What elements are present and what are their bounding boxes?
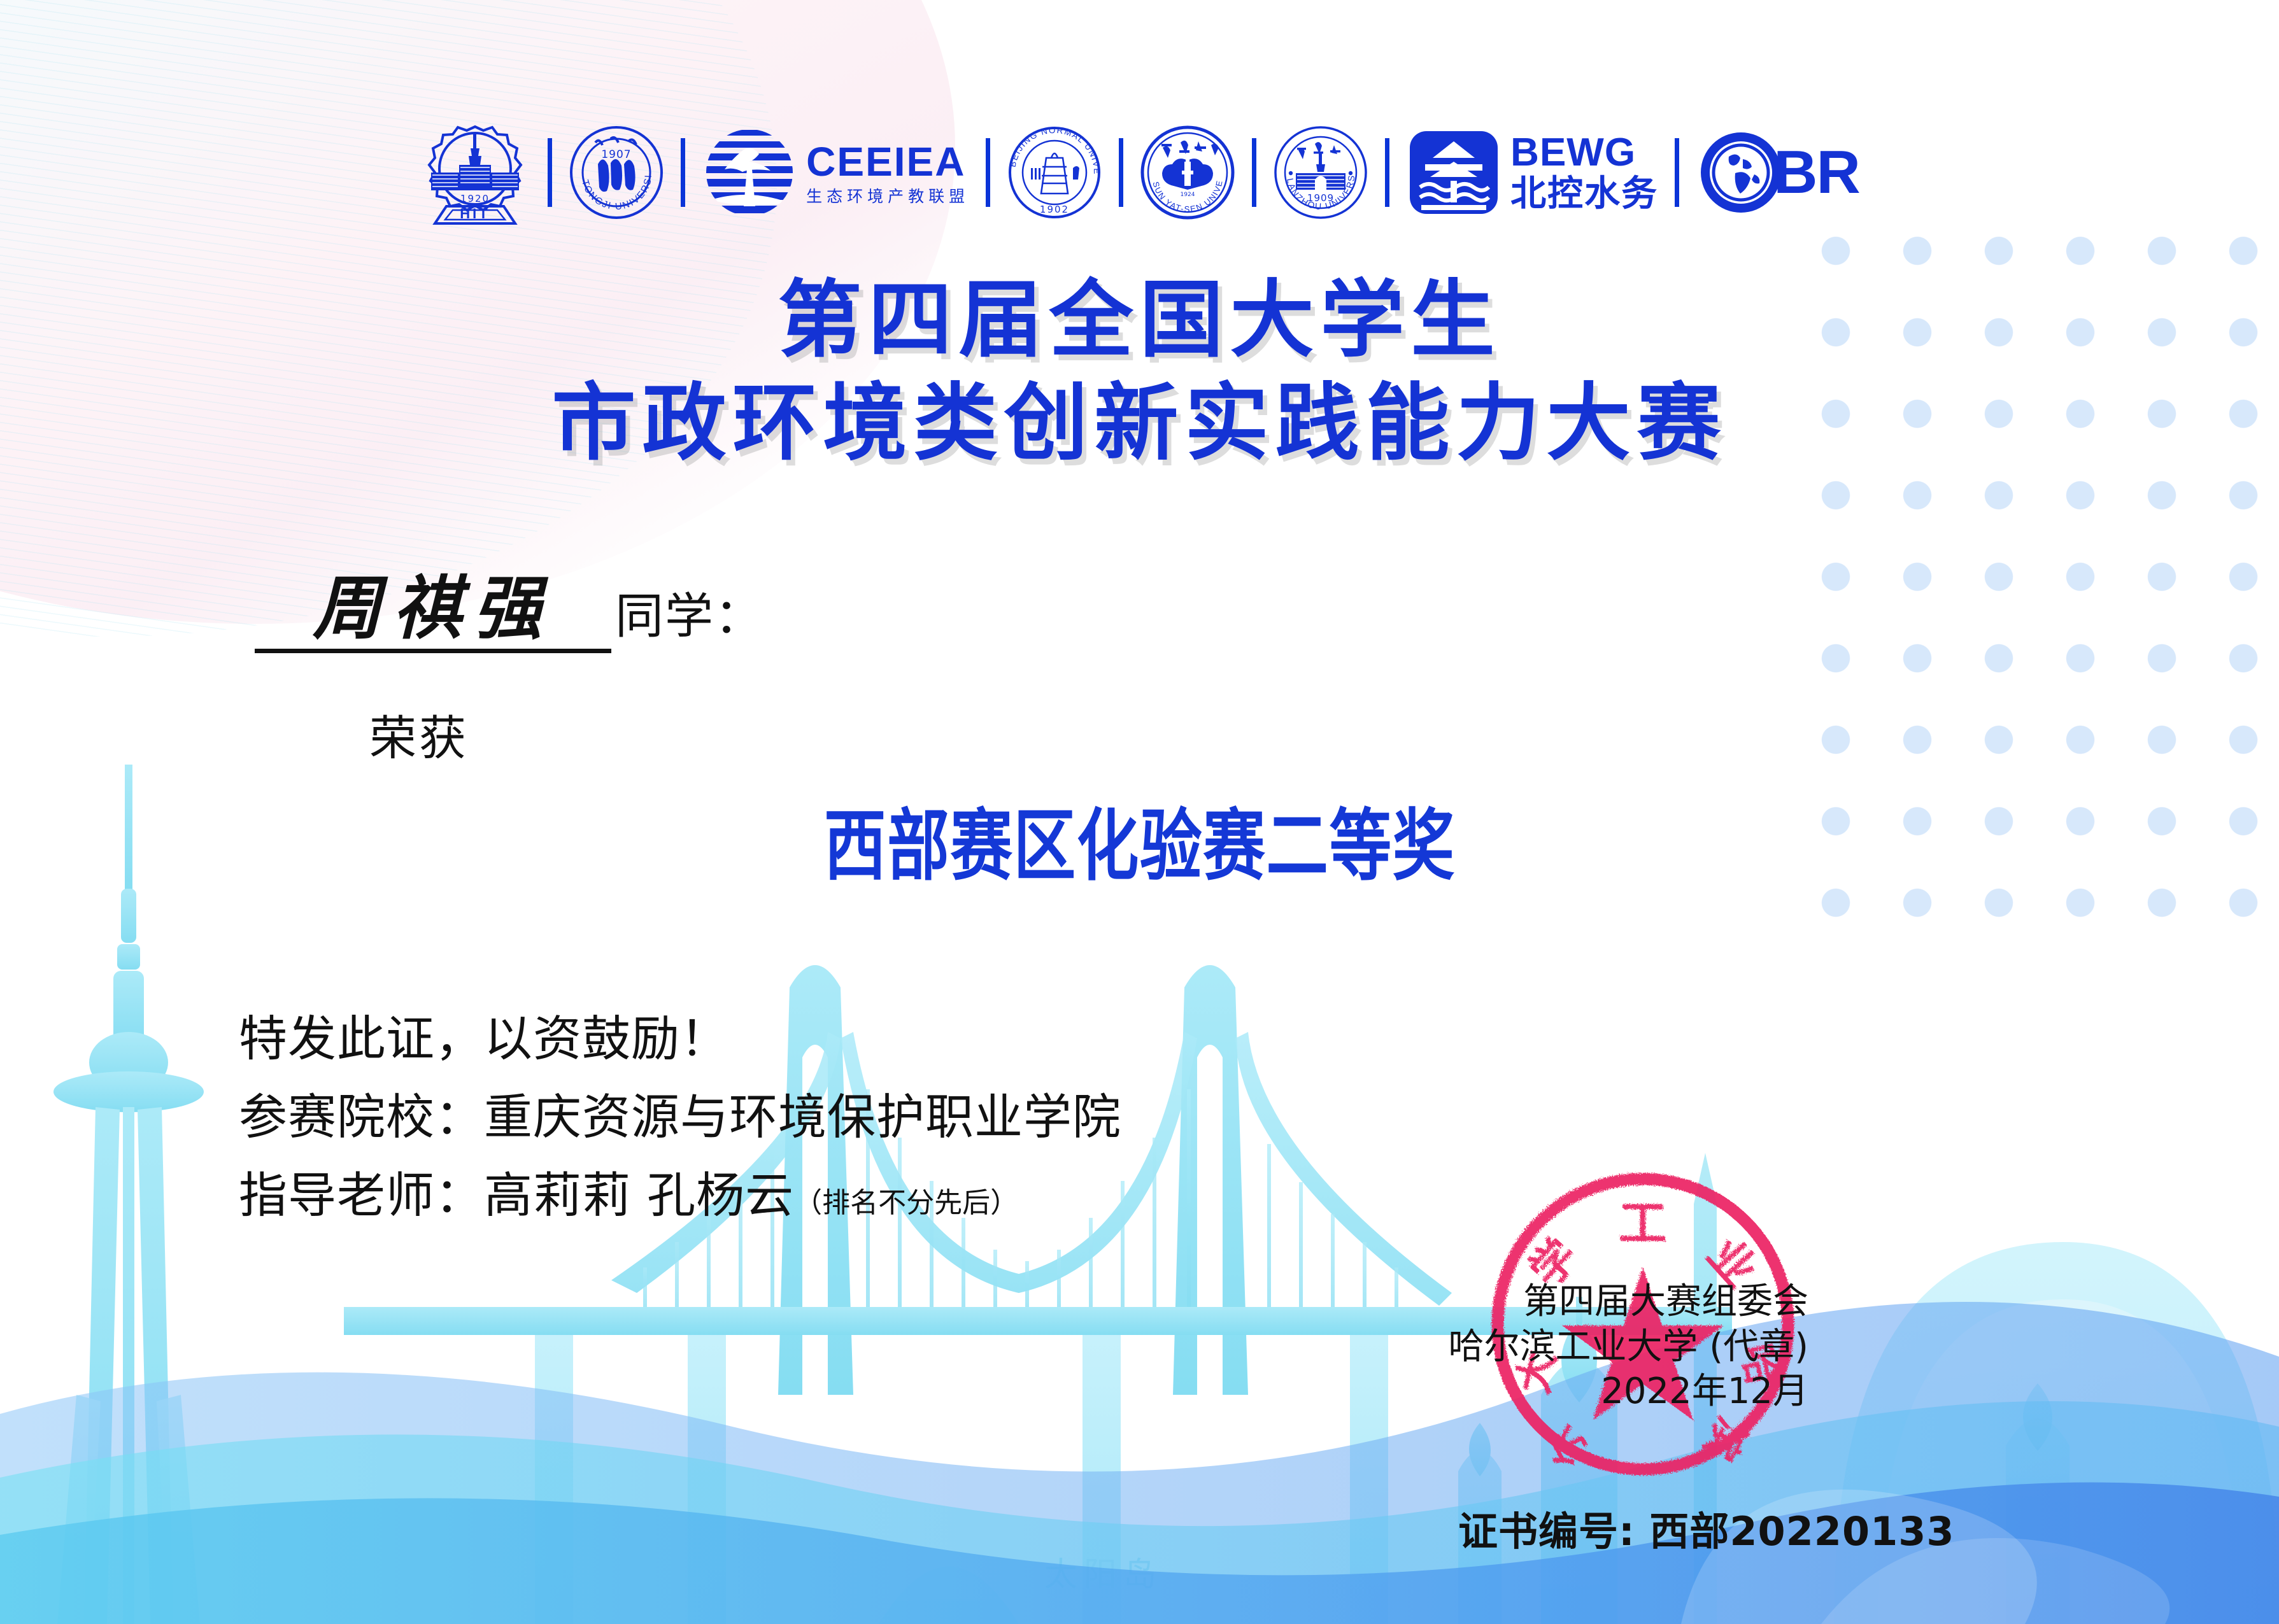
- teacher-order-note: （排名不分先后）: [794, 1187, 1018, 1219]
- recipient-name-field: 周祺强: [255, 573, 611, 653]
- br-label: BR: [1773, 142, 1859, 203]
- honor-label: 荣获: [369, 700, 469, 768]
- title-line-2: 市政环境类创新实践能力大赛: [0, 377, 2279, 471]
- island-label: 太阳岛: [1044, 1556, 1163, 1594]
- logo-sun-yat-sen-university: SUN YAT-SEN UNIVERSITY 1924: [1140, 115, 1235, 230]
- logo-beijing-normal-university: BEIJING NORMAL UNIVERSITY 1902: [1007, 115, 1102, 230]
- svg-text:1924: 1924: [1181, 192, 1195, 198]
- svg-text:1909: 1909: [1307, 192, 1334, 204]
- logo-divider: [548, 138, 552, 207]
- logo-divider: [1252, 138, 1256, 207]
- logo-bewg: BEWG 北控水务: [1406, 115, 1658, 230]
- title-line-1: 第四届全国大学生: [0, 274, 2279, 368]
- school-line: 参赛院校：重庆资源与环境保护职业学院: [239, 1078, 1767, 1156]
- signature-date: 2022年12月: [1401, 1369, 1808, 1415]
- award-title: 西部赛区化验赛二等奖: [824, 803, 1456, 889]
- bottom-wave-decoration: [0, 1267, 2279, 1624]
- logo-divider: [986, 138, 990, 207]
- certificate-title: 第四届全国大学生 市政环境类创新实践能力大赛: [0, 274, 2279, 471]
- teacher-names: 指导老师：高莉莉 孔杨云: [239, 1167, 794, 1224]
- award-title-row: 西部赛区化验赛二等奖: [0, 803, 2279, 889]
- signature-block: 第四届大赛组委会 哈尔滨工业大学 (代章) 2022年12月: [1401, 1280, 1808, 1415]
- svg-text:工: 工: [1619, 1195, 1667, 1252]
- svg-text:1902: 1902: [1040, 204, 1069, 215]
- recipient-suffix: 同学：: [615, 577, 764, 653]
- ceeiea-label-cn: 生态环境产教联盟: [806, 188, 969, 204]
- logo-divider: [1119, 138, 1123, 207]
- encouragement-line: 特发此证，以资鼓励！: [239, 999, 1767, 1078]
- svg-text:1907: 1907: [602, 148, 632, 161]
- logo-divider: [1675, 138, 1679, 207]
- logo-divider: [1385, 138, 1389, 207]
- logo-harbin-institute-of-technology: 1920 HIT: [420, 115, 531, 230]
- logo-tongji-university: TONGJI UNIVERSITY 1907: [569, 115, 664, 230]
- logo-br-group: BR: [1696, 115, 1859, 230]
- logo-lanzhou-university: LANZHOU UNIVERSITY 19: [1273, 115, 1368, 230]
- logo-ceeiea-alliance: CEEIEA 生态环境产教联盟: [702, 115, 969, 230]
- signature-organizer: 第四届大赛组委会: [1401, 1280, 1808, 1325]
- bewg-label-cn: 北控水务: [1510, 176, 1658, 212]
- ceeiea-label-en: CEEIEA: [806, 141, 969, 182]
- recipient-name: 周祺强: [313, 568, 553, 649]
- signature-institution: 哈尔滨工业大学 (代章): [1401, 1325, 1808, 1370]
- recipient-row: 周祺强 同学：: [255, 573, 764, 653]
- certificate-canvas: 太阳岛: [0, 0, 2279, 1624]
- partner-logo-row: 1920 HIT TONGJI UNIVERSITY 1907: [0, 112, 2279, 233]
- logo-divider: [681, 138, 685, 207]
- bewg-label-en: BEWG: [1510, 133, 1658, 173]
- svg-text:HIT: HIT: [460, 206, 490, 222]
- certificate-number: 证书编号: 西部20220133: [1458, 1499, 1955, 1557]
- svg-text:1920: 1920: [460, 193, 490, 204]
